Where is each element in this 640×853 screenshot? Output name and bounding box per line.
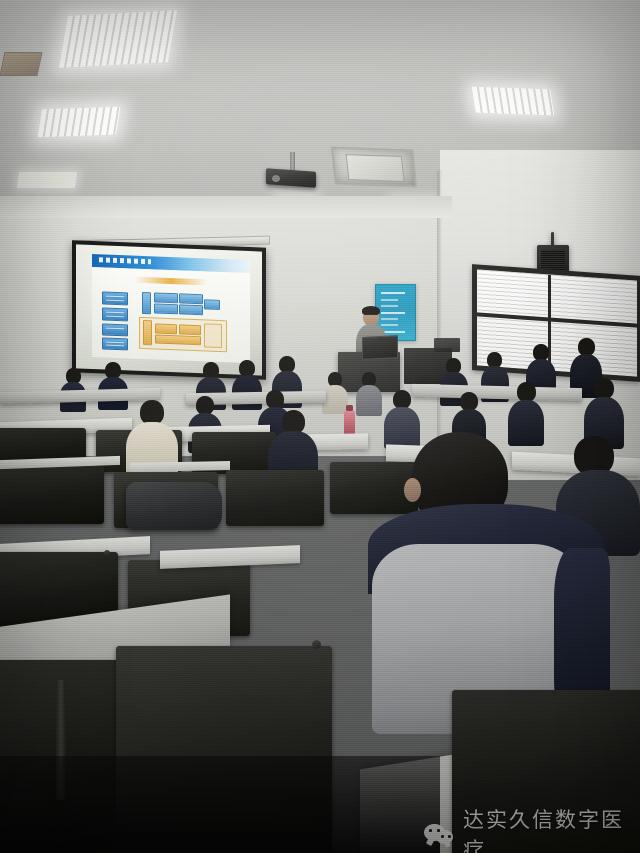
ceiling-ac-unit [331,147,417,188]
wall-soffit [0,196,452,218]
slide-box-orange [179,324,201,335]
slide-box-center [154,292,178,303]
slide-box-center [204,299,220,310]
floor-shadow [0,756,440,853]
ceiling-vent [0,52,43,76]
slide-box-left [102,307,128,321]
attendee-body [356,385,382,416]
projector-lens [272,175,280,182]
slide-box-center [179,293,203,304]
presenter-glasses [364,314,378,318]
seat-back [0,466,104,524]
row-desk [160,545,300,569]
slide-box-center [179,304,203,315]
watermark: 达实久信数字医疗 [424,804,640,853]
slide-box-orange-tab [143,320,152,345]
seat-knob [104,550,110,556]
slide-box-center [154,303,178,314]
slide-header-text [99,257,151,264]
bag-on-desk [126,482,222,530]
ceiling-light-panel [17,172,77,188]
slide-box-left [102,337,128,350]
av-equipment-box [434,338,460,352]
wechat-icon [424,822,454,846]
slide-box-orange [155,323,177,334]
ceiling-light-panel [59,10,177,68]
seat-knob [312,640,321,649]
ceiling-light-panel [38,107,121,138]
foreground-attendee-ear [404,478,421,502]
watermark-text: 达实久信数字医疗 [463,804,640,853]
attendee-head [517,382,536,402]
slide-box-orange [204,323,222,348]
foreground-attendee [368,432,616,732]
attendee [356,372,382,414]
attendee-head [594,378,614,399]
projection-screen [76,244,262,375]
slide-box-orange [155,334,201,345]
ceiling-light-panel [472,87,555,116]
slide-box-left [102,291,128,305]
photo-canvas: 达实久信数字医疗 [0,0,640,853]
seat-back [226,470,324,526]
slide-box-left [102,323,128,336]
laptop [362,335,398,360]
slide-box-center-tab [142,292,151,314]
